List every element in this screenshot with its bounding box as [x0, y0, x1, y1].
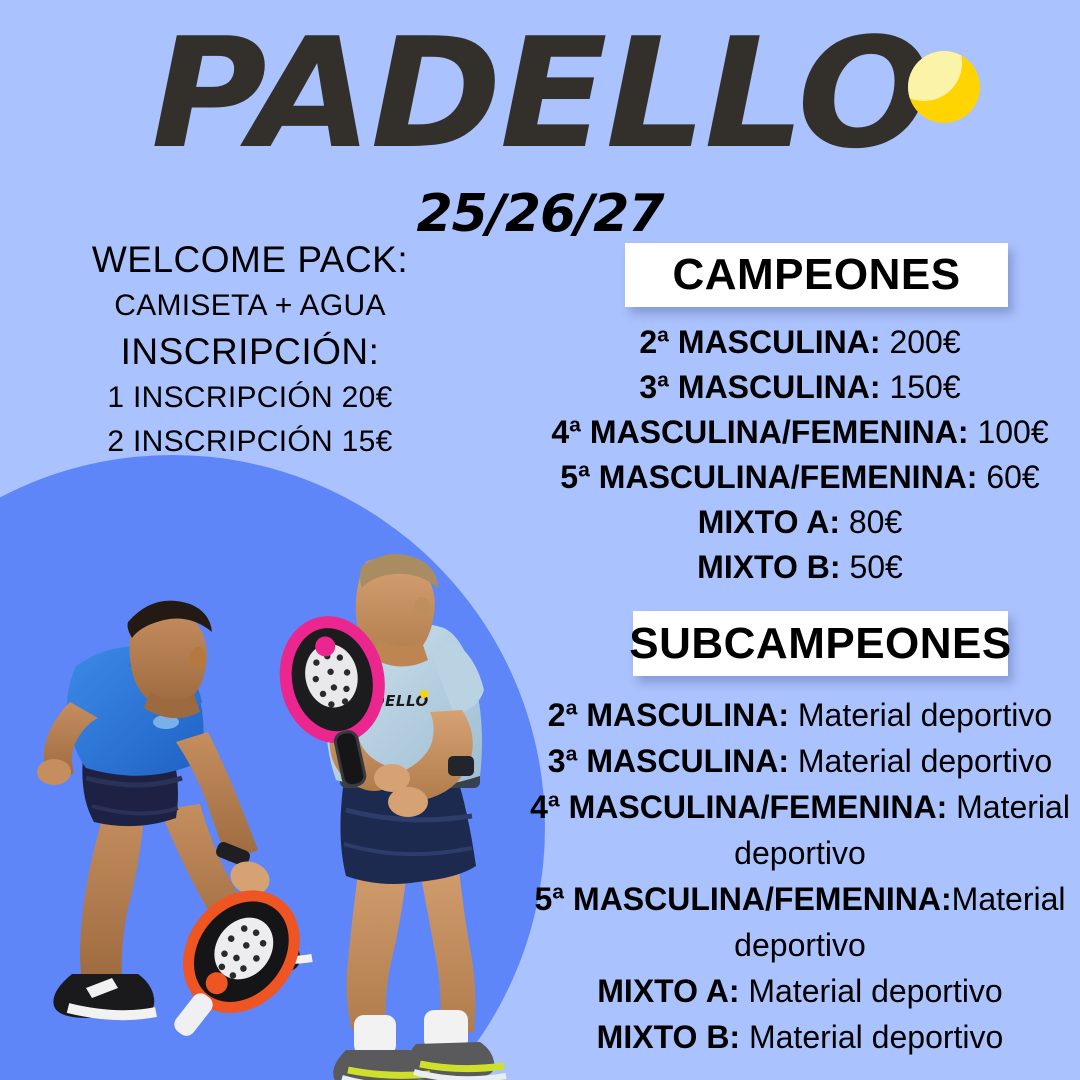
prize-row: 2ª MASCULINA: Material deportivo — [520, 692, 1080, 738]
prize-row: 5ª MASCULINA/FEMENINA:Material deportivo — [520, 876, 1080, 968]
prize-category: MIXTO B: — [697, 549, 840, 585]
prize-category: 5ª MASCULINA/FEMENINA: — [535, 881, 952, 917]
inscripcion-line-1: 1 INSCRIPCIÓN 20€ — [20, 376, 480, 420]
prize-row: MIXTO B: 50€ — [520, 545, 1080, 590]
prize-category: 2ª MASCULINA: — [639, 324, 880, 360]
prize-category: 2ª MASCULINA: — [548, 697, 789, 733]
prize-category: 3ª MASCULINA: — [548, 743, 789, 779]
prize-value: 50€ — [841, 549, 903, 585]
prize-category: MIXTO A: — [597, 973, 739, 1009]
prize-row: 5ª MASCULINA/FEMENINA: 60€ — [520, 455, 1080, 500]
inscripcion-line-2: 2 INSCRIPCIÓN 15€ — [20, 420, 480, 464]
campeones-banner: CAMPEONES — [625, 243, 1008, 307]
inscripcion-label: INSCRIPCIÓN: — [20, 328, 480, 376]
prize-row: 4ª MASCULINA/FEMENINA: Material deportiv… — [520, 784, 1080, 876]
prize-value: Material deportivo — [739, 973, 1002, 1009]
welcome-pack-items: CAMISETA + AGUA — [20, 284, 480, 328]
prizes-column: CAMPEONES 2ª MASCULINA: 200€3ª MASCULINA… — [520, 0, 1080, 1080]
prize-row: MIXTO A: Material deportivo — [520, 968, 1080, 1014]
padel-players-photo: PADELLO — [10, 510, 540, 1080]
prize-row: 2ª MASCULINA: 200€ — [520, 320, 1080, 365]
prize-value: 150€ — [881, 369, 961, 405]
prize-category: 5ª MASCULINA/FEMENINA: — [560, 459, 977, 495]
prize-value: 80€ — [840, 504, 902, 540]
welcome-pack-block: WELCOME PACK: CAMISETA + AGUA INSCRIPCIÓ… — [20, 236, 480, 464]
prize-value: Material deportivo — [789, 743, 1052, 779]
subcampeones-list: 2ª MASCULINA: Material deportivo3ª MASCU… — [520, 692, 1080, 1060]
subcampeones-heading: SUBCAMPEONES — [629, 622, 1012, 666]
prize-category: MIXTO B: — [597, 1019, 740, 1055]
subcampeones-banner: SUBCAMPEONES — [633, 611, 1008, 676]
prize-value: 200€ — [881, 324, 961, 360]
campeones-heading: CAMPEONES — [672, 253, 960, 297]
poster: PADELLO — [0, 0, 1080, 1080]
prize-row: MIXTO B: Material deportivo — [520, 1014, 1080, 1060]
prize-row: MIXTO A: 80€ — [520, 500, 1080, 545]
prize-row: 4ª MASCULINA/FEMENINA: 100€ — [520, 410, 1080, 455]
prize-value: Material deportivo — [740, 1019, 1003, 1055]
campeones-list: 2ª MASCULINA: 200€3ª MASCULINA: 150€4ª M… — [520, 320, 1080, 590]
welcome-pack-label: WELCOME PACK: — [20, 236, 480, 284]
prize-category: 3ª MASCULINA: — [639, 369, 880, 405]
prize-value: 100€ — [969, 414, 1049, 450]
prize-row: 3ª MASCULINA: Material deportivo — [520, 738, 1080, 784]
prize-category: MIXTO A: — [698, 504, 840, 540]
prize-category: 4ª MASCULINA/FEMENINA: — [530, 789, 947, 825]
prize-category: 4ª MASCULINA/FEMENINA: — [551, 414, 968, 450]
prize-value: 60€ — [977, 459, 1039, 495]
prize-row: 3ª MASCULINA: 150€ — [520, 365, 1080, 410]
prize-value: Material deportivo — [789, 697, 1052, 733]
